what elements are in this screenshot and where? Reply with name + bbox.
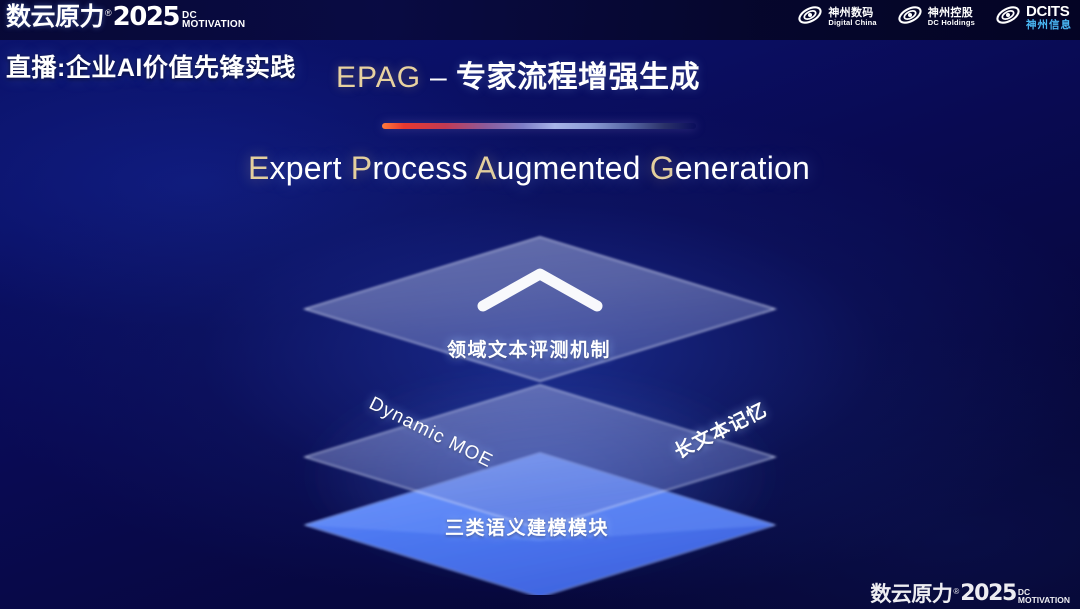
brand-subtitle: DC MOTIVATION bbox=[182, 11, 245, 29]
partner-logo-group: 神州数码 Digital China 神州控股 DC Holdings bbox=[797, 4, 1072, 31]
watermark-registered-mark: ® bbox=[953, 587, 959, 596]
partner-name-en: DCITS bbox=[1026, 4, 1072, 19]
slide-headline: EPAG – 专家流程增强生成 bbox=[336, 52, 700, 96]
subheadline-cap-1: E bbox=[248, 150, 270, 186]
headline-dash: – bbox=[421, 61, 456, 94]
live-session-title: 直播:企业AI价值先锋实践 bbox=[6, 48, 296, 84]
subheadline-cap-4: G bbox=[650, 150, 675, 186]
registered-mark: ® bbox=[105, 9, 112, 18]
gradient-divider bbox=[382, 123, 696, 129]
partner-name-en: DC Holdings bbox=[928, 19, 975, 27]
partner-name-block: 神州数码 Digital China bbox=[828, 8, 876, 27]
stack-layer-top bbox=[305, 237, 775, 381]
layered-stack-diagram: 领域文本评测机制 Dynamic MOE 长文本记忆 三类语义建模模块 bbox=[275, 225, 805, 595]
partner-logo-dcits: DCITS 神州信息 bbox=[995, 4, 1072, 31]
subheadline-rest-3: ugmented bbox=[497, 150, 641, 186]
brand-subtitle-line2: MOTIVATION bbox=[182, 20, 245, 29]
subheadline-rest-2: rocess bbox=[372, 150, 467, 186]
partner-name-en: Digital China bbox=[828, 19, 876, 27]
partner-logo-dc-holdings: 神州控股 DC Holdings bbox=[897, 4, 975, 31]
brand-name-cn: 数云原力 bbox=[6, 5, 104, 30]
event-brand-logo: 数云原力 ® 2025 DC MOTIVATION bbox=[6, 4, 245, 30]
presentation-slide: 数云原力 ® 2025 DC MOTIVATION 直播:企业AI价值先锋实践 … bbox=[0, 0, 1080, 609]
brand-year: 2025 bbox=[113, 4, 179, 30]
stack-graphic bbox=[275, 225, 805, 595]
subheadline-rest-1: xpert bbox=[270, 150, 342, 186]
partner-logo-digital-china: 神州数码 Digital China bbox=[797, 4, 876, 31]
slide-subheadline: Expert Process Augmented Generation bbox=[248, 150, 810, 187]
partner-name-cn: 神州信息 bbox=[1026, 19, 1072, 31]
swirl-logo-icon bbox=[797, 4, 823, 31]
subheadline-cap-3: A bbox=[475, 150, 497, 186]
watermark-year: 2025 bbox=[960, 583, 1016, 605]
headline-acronym: EPAG bbox=[336, 61, 421, 94]
slide-watermark: 数云原力 ® 2025 DC MOTIVATION bbox=[870, 583, 1070, 605]
watermark-name-cn: 数云原力 bbox=[870, 584, 952, 605]
swirl-logo-icon bbox=[897, 4, 923, 31]
watermark-subtitle: DC MOTIVATION bbox=[1018, 588, 1070, 604]
partner-name-block: 神州控股 DC Holdings bbox=[928, 8, 975, 27]
headline-chinese: 专家流程增强生成 bbox=[456, 61, 700, 94]
swirl-logo-icon bbox=[995, 4, 1021, 31]
subheadline-rest-4: eneration bbox=[675, 150, 810, 186]
subheadline-cap-2: P bbox=[351, 150, 373, 186]
partner-name-block: DCITS 神州信息 bbox=[1026, 4, 1072, 31]
watermark-subtitle-line2: MOTIVATION bbox=[1018, 596, 1070, 604]
